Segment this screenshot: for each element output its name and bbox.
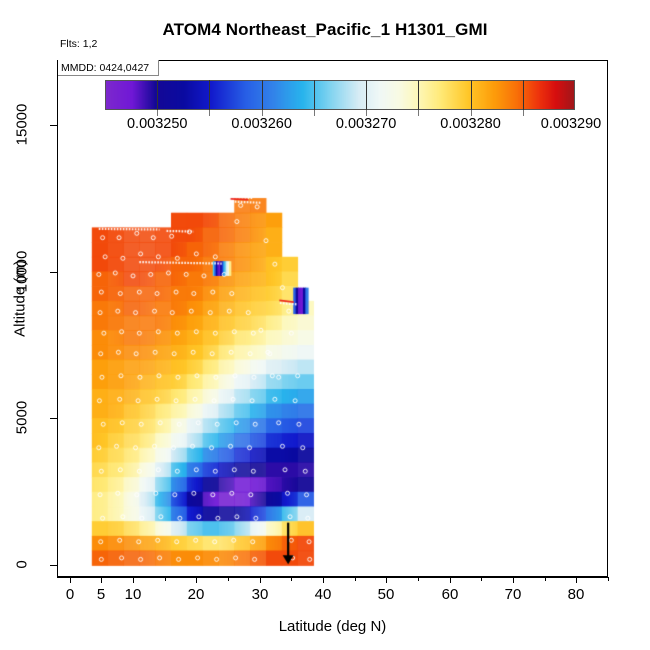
x-axis-minor-tick bbox=[291, 577, 292, 581]
chart-title: ATOM4 Northeast_Pacific_1 H1301_GMI bbox=[0, 20, 650, 40]
x-axis-label: Latitude (deg N) bbox=[57, 618, 608, 635]
x-axis-tick-label: 0 bbox=[66, 586, 74, 603]
x-axis-tick-label: 30 bbox=[252, 586, 269, 603]
x-axis-tick bbox=[450, 577, 451, 583]
x-axis-tick bbox=[70, 577, 71, 583]
x-axis-minor-tick bbox=[165, 577, 166, 581]
y-axis-tick bbox=[50, 565, 57, 566]
flights-annotation: Flts: 1,2 bbox=[60, 38, 97, 50]
x-axis-tick-label: 50 bbox=[378, 586, 395, 603]
x-axis-minor-tick bbox=[545, 577, 546, 581]
x-axis-tick bbox=[260, 577, 261, 583]
x-axis-line bbox=[57, 577, 608, 578]
y-axis-tick bbox=[50, 272, 57, 273]
x-axis-tick bbox=[101, 577, 102, 583]
x-axis-tick-label: 60 bbox=[442, 586, 459, 603]
x-axis-tick-label: 70 bbox=[505, 586, 522, 603]
x-axis-tick-label: 80 bbox=[568, 586, 585, 603]
x-axis-tick-label: 5 bbox=[97, 586, 105, 603]
x-axis-tick bbox=[196, 577, 197, 583]
x-axis-minor-tick bbox=[481, 577, 482, 581]
x-axis-tick-label: 10 bbox=[125, 586, 142, 603]
heatmap-data-area bbox=[58, 61, 607, 576]
x-axis-tick bbox=[323, 577, 324, 583]
x-axis-minor-tick bbox=[355, 577, 356, 581]
x-axis-tick bbox=[386, 577, 387, 583]
x-axis-tick bbox=[576, 577, 577, 583]
y-axis-line bbox=[57, 60, 58, 577]
y-axis-tick-label: 15000 bbox=[14, 103, 31, 147]
x-axis-minor-tick bbox=[418, 577, 419, 581]
y-axis-label: Altitude (m) bbox=[12, 239, 29, 359]
y-axis-tick bbox=[50, 418, 57, 419]
y-axis-tick-label: 5000 bbox=[14, 396, 31, 440]
heatmap-canvas bbox=[58, 61, 607, 576]
x-axis-minor-tick bbox=[608, 577, 609, 581]
x-axis-tick bbox=[513, 577, 514, 583]
x-axis-tick-label: 20 bbox=[188, 586, 205, 603]
y-axis-tick-label: 0 bbox=[14, 543, 31, 587]
x-axis-minor-tick bbox=[228, 577, 229, 581]
x-axis-tick bbox=[133, 577, 134, 583]
x-axis-tick-label: 40 bbox=[315, 586, 332, 603]
y-axis-tick bbox=[50, 125, 57, 126]
